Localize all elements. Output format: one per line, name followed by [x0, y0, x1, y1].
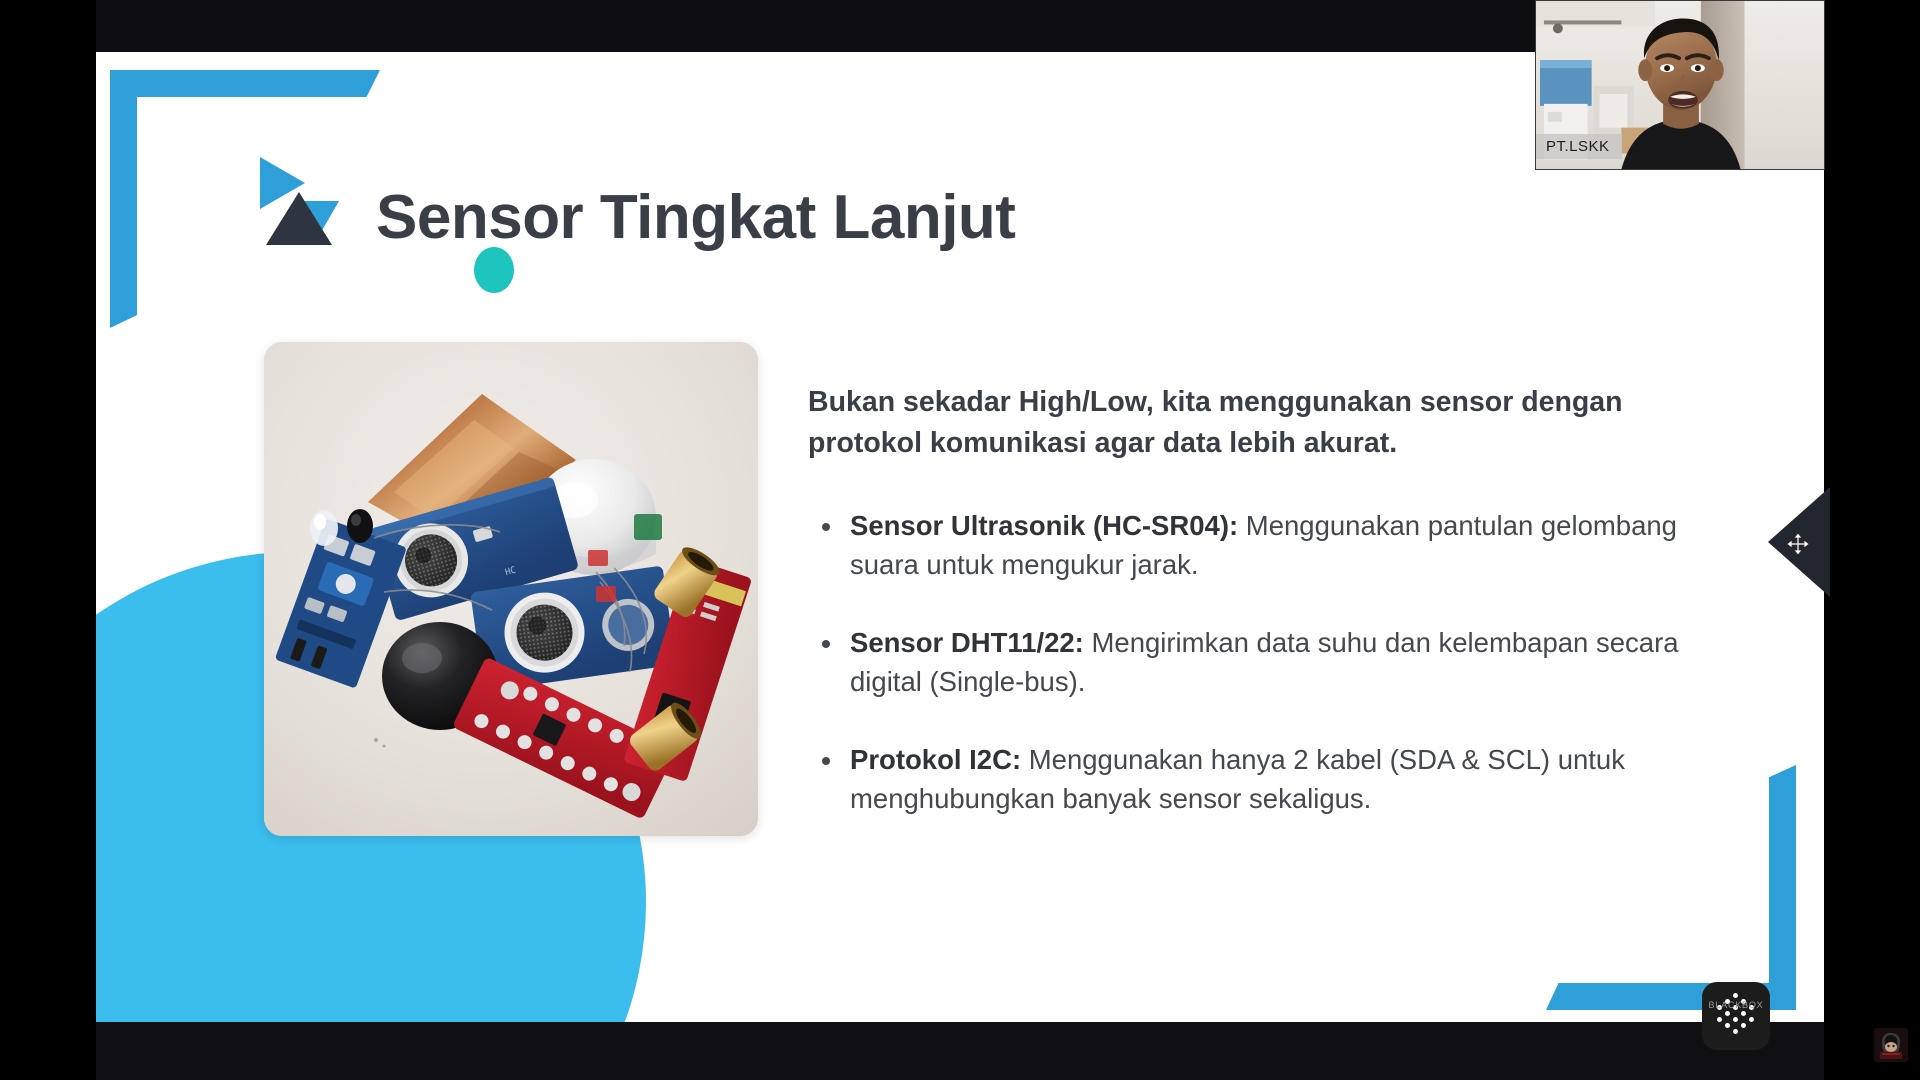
bullet-term: Sensor DHT11/22:	[850, 627, 1084, 658]
list-item: Sensor Ultrasonik (HC-SR04): Menggunakan…	[808, 506, 1738, 585]
bullet-term: Sensor Ultrasonik (HC-SR04):	[850, 510, 1238, 541]
tray-avatar-icon[interactable]	[1874, 1028, 1908, 1062]
bullet-list: Sensor Ultrasonik (HC-SR04): Menggunakan…	[808, 506, 1738, 820]
letterbox-left	[0, 0, 96, 1080]
letterbox-bottom	[0, 1022, 1920, 1080]
bracket-vertical-bar	[110, 70, 137, 328]
blackbox-watermark-label: BLACKBOX	[1702, 1000, 1770, 1010]
lead-paragraph: Bukan sekadar High/Low, kita menggunakan…	[808, 382, 1738, 464]
lskk-logo-icon	[254, 157, 340, 245]
teal-accent-dot	[474, 247, 514, 293]
slide-title: Sensor Tingkat Lanjut	[376, 182, 1015, 253]
letterbox-right	[1824, 0, 1920, 1080]
presenter-webcam[interactable]: PT.LSKK	[1535, 0, 1825, 170]
slide-body: Bukan sekadar High/Low, kita menggunakan…	[808, 382, 1738, 819]
screen-root: Sensor Tingkat Lanjut	[0, 0, 1920, 1080]
presentation-slide: Sensor Tingkat Lanjut	[96, 52, 1824, 1022]
bracket-vertical-bar	[1769, 765, 1796, 1010]
sensor-components-photo: HC	[264, 342, 758, 836]
logo-dark-up-triangle	[266, 192, 332, 245]
list-item: Protokol I2C: Menggunakan hanya 2 kabel …	[808, 740, 1738, 819]
move-cursor-icon	[1787, 533, 1809, 555]
blackbox-watermark-icon	[1702, 982, 1770, 1050]
bullet-term: Protokol I2C:	[850, 744, 1021, 775]
list-item: Sensor DHT11/22: Mengirimkan data suhu d…	[808, 623, 1738, 702]
blackbox-dot-grid	[1702, 982, 1770, 1050]
webcam-name-label: PT.LSKK	[1536, 134, 1622, 159]
bracket-horizontal-bar	[110, 70, 380, 97]
